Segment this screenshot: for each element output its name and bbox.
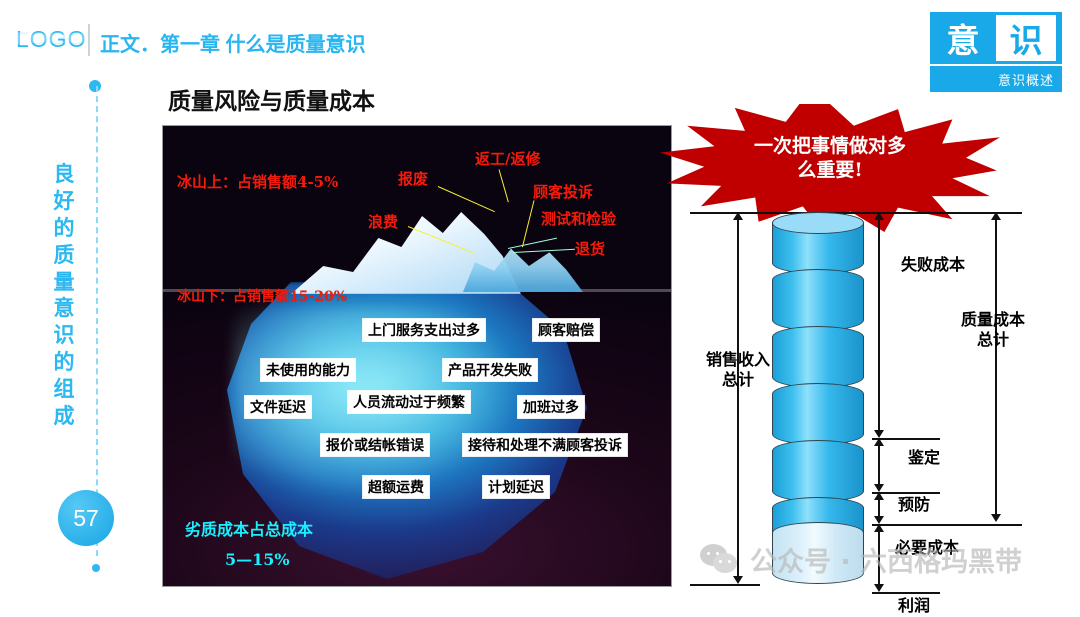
wechat-icon [700,544,740,576]
cost-cylinder [772,212,864,584]
above-item-waste: 浪费 [368,211,398,232]
header-divider [88,24,90,56]
cylinder-top-ellipse [772,212,864,234]
rail-dashed-line [96,86,98,556]
above-item-testing: 测试和检验 [541,208,616,229]
bracket-prevention-arrow-top-icon [874,492,884,500]
bracket-sales-arrow-top-icon [733,212,743,220]
cylinder-segment [772,383,864,445]
label-poor-quality-cost: 劣质成本占总成本 [185,516,313,540]
bracket-appraisal-arrow-bottom-icon [874,484,884,492]
iceberg-image: 冰山上：占销售额4-5% 冰山下：占销售额15-20% 返工/返修 报废 浪费 … [162,125,672,587]
content-title: 质量风险与质量成本 [168,82,375,116]
watermark: 公众号 · 六西格玛黑带 [700,540,1022,579]
leader-line-testing [508,238,557,249]
leader-line-return [513,249,575,253]
bracket-quality-arrow-bottom-icon [991,514,1001,522]
slide-root: LOGO LOGO 正文．第一章 什么是质量意识 意 识 意识概述 良好的质量意… [0,0,1080,608]
wechat-dot [728,560,731,563]
leader-line-rework [499,169,509,202]
above-item-return: 退货 [575,238,605,259]
cylinder-segment [772,440,864,502]
below-item-quote-billing-error: 报价或结帐错误 [321,434,429,456]
wechat-dot [719,560,722,563]
callout-text: 一次把事情做对多 么重要! [660,134,1000,183]
wechat-dot [707,552,710,555]
below-item-unused-capacity: 未使用的能力 [261,359,355,381]
below-item-schedule-delay: 计划延迟 [483,476,549,498]
above-item-scrap: 报废 [398,168,428,189]
label-appraisal: 鉴定 [908,448,930,469]
badge-char-2: 识 [996,15,1056,61]
bracket-total-quality-cost-line [995,216,997,520]
cylinder-segment [772,326,864,388]
logo-reflection: LOGO [16,28,86,48]
bracket-failure-cost-line [878,216,880,436]
section-badge: 意 识 [930,12,1062,64]
page-number-badge: 57 [58,490,114,546]
bracket-appraisal-arrow-top-icon [874,438,884,446]
below-item-handling-complaints: 接待和处理不满顾客投诉 [463,434,627,456]
below-item-excess-freight: 超额运费 [363,476,429,498]
label-profit: 利润 [898,596,930,617]
above-item-complaint: 顾客投诉 [533,181,593,202]
label-poor-quality-cost-value: 5—15% [225,550,290,569]
bracket-prevention-arrow-bottom-icon [874,516,884,524]
wechat-bubble-small [713,553,737,573]
page-title: 正文．第一章 什么是质量意识 [100,28,366,57]
bracket-necessary-arrow-top-icon [874,524,884,532]
bracket-appraisal-line [878,444,880,488]
rail-dot-top-icon [89,80,101,92]
watermark-text: 公众号 · 六西格玛黑带 [750,540,1022,579]
label-below-water: 冰山下：占销售额15-20% [177,286,347,306]
label-total-sales-revenue: 销售收入总计 [704,350,772,390]
leader-line-scrap [438,186,495,212]
below-item-overtime: 加班过多 [518,396,584,418]
bracket-necessary-arrow-bottom-icon [874,584,884,592]
bracket-sales-line [737,216,739,582]
above-item-rework: 返工/返修 [475,148,540,169]
bracket-quality-arrow-top-icon [991,212,1001,220]
callout-line-1: 一次把事情做对多 [660,134,1000,158]
below-item-staff-turnover: 人员流动过于频繁 [348,391,470,413]
rule-necessary-cost-top [872,524,1022,526]
bracket-failure-arrow-bottom-icon [874,430,884,438]
sidebar-vertical-title: 良好的质量意识的组成 [48,162,80,431]
below-item-customer-compensation: 顾客赔偿 [533,319,599,341]
rule-profit-top [872,592,940,594]
rail-dot-bottom-icon [92,564,100,572]
label-above-water: 冰山上：占销售额4-5% [177,171,338,192]
wechat-dot [716,552,719,555]
rule-bottom [690,584,760,586]
callout-line-2: 么重要! [660,158,1000,182]
leader-line-complaint [522,200,535,247]
below-item-document-delay: 文件延迟 [245,396,311,418]
label-prevention: 预防 [898,495,930,516]
cylinder-segment [772,269,864,331]
below-item-product-dev-failure: 产品开发失败 [443,359,537,381]
badge-char-1: 意 [930,12,996,64]
label-total-quality-cost: 质量成本总计 [958,310,1028,350]
bracket-failure-arrow-top-icon [874,212,884,220]
badge-subtitle: 意识概述 [930,66,1062,92]
below-item-onsite-service: 上门服务支出过多 [363,319,485,341]
label-failure-cost: 失败成本 [896,255,970,276]
